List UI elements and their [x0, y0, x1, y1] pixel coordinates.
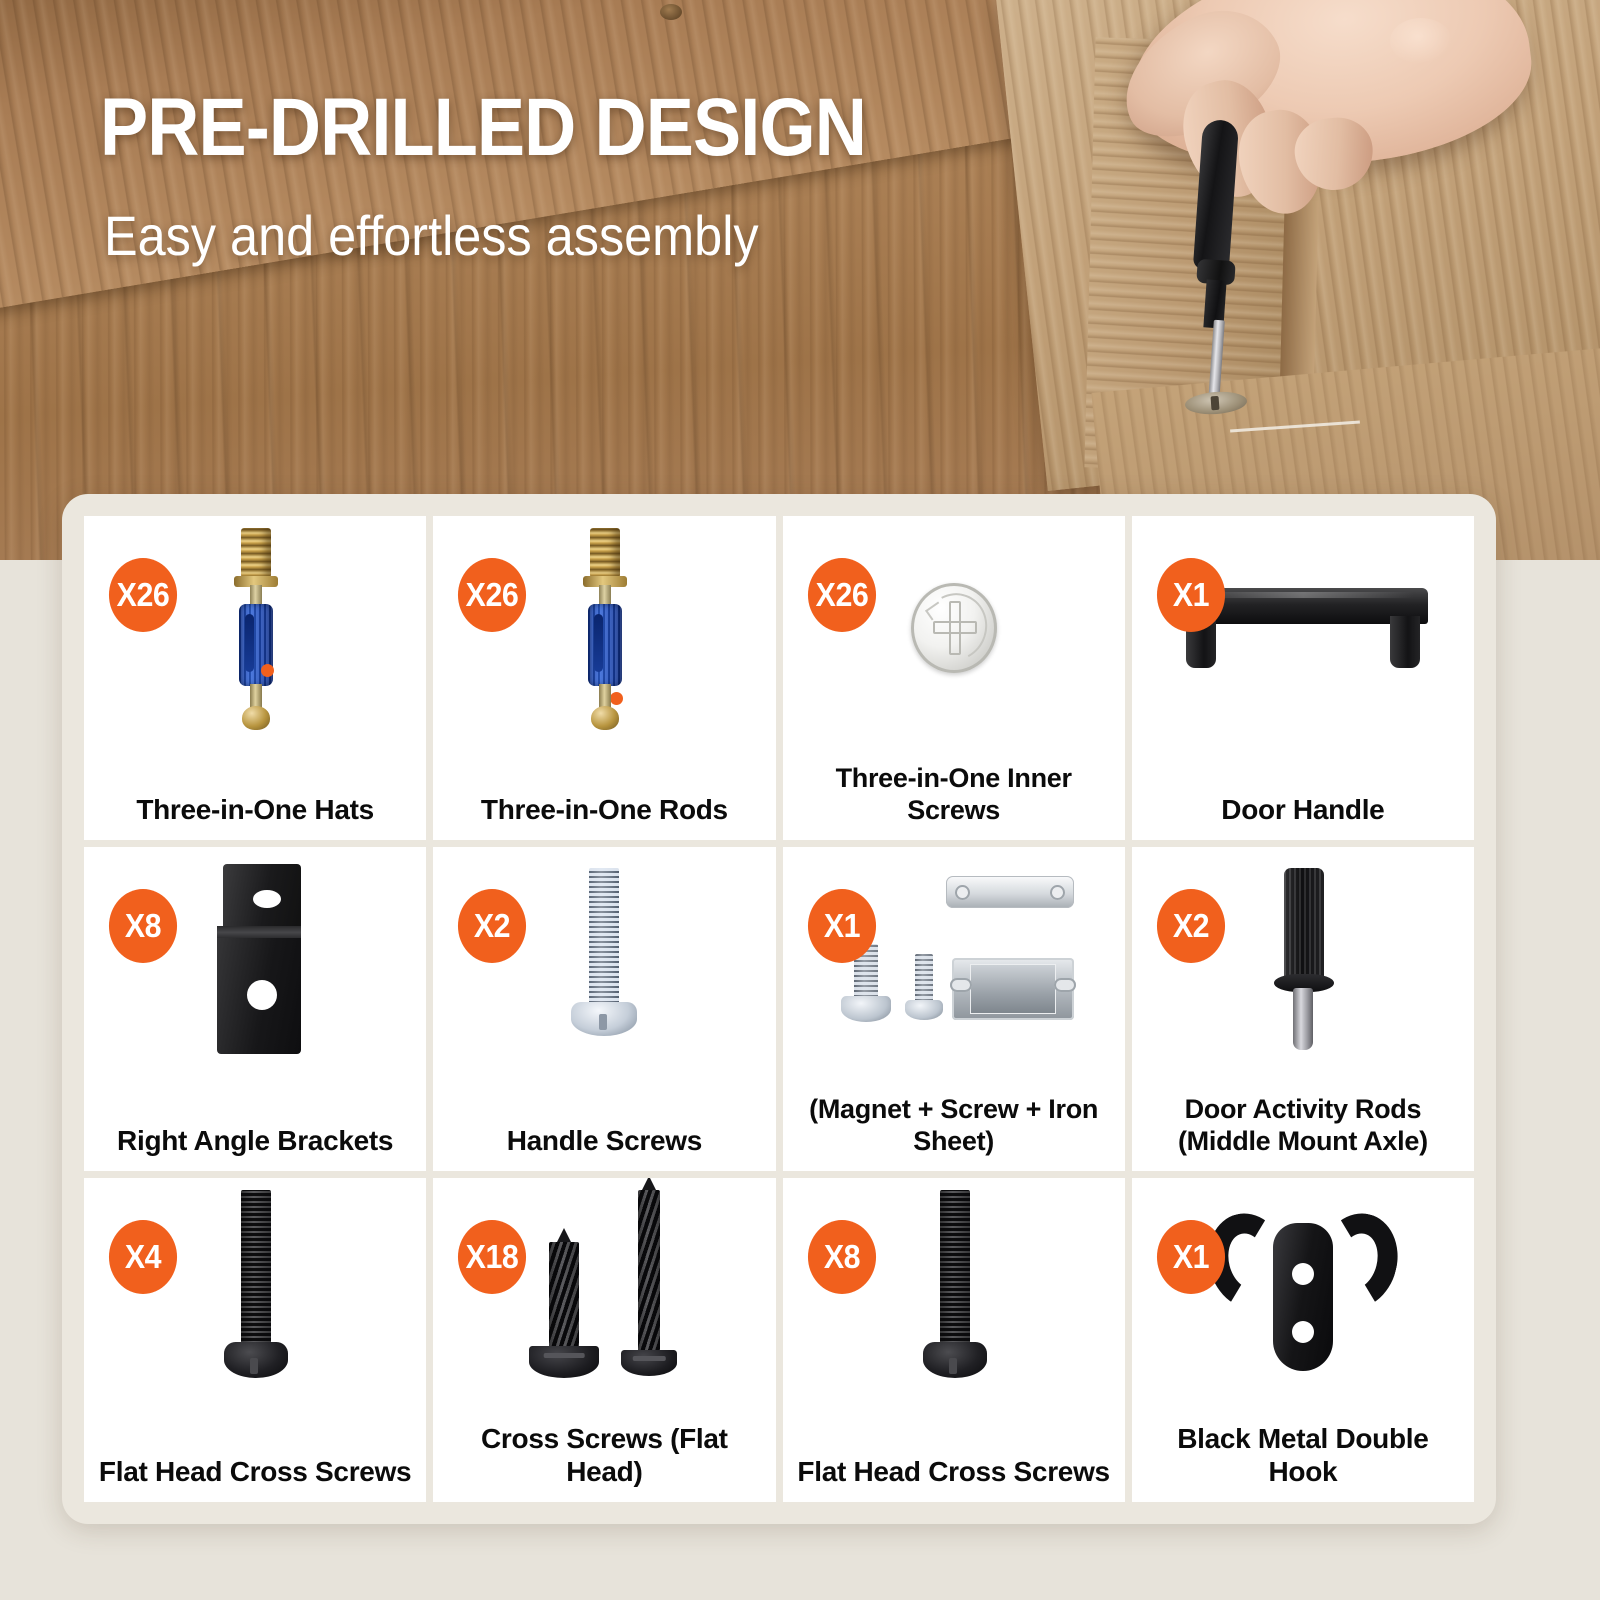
page-title: PRE-DRILLED DESIGN	[100, 88, 866, 168]
magnet-screw	[902, 954, 946, 1026]
parts-list-panel: X26 Three-in-One Hats X26	[62, 494, 1496, 1524]
quantity-badge: X26	[458, 558, 526, 632]
iron-sheet	[946, 876, 1074, 908]
part-card-magnet-screw-iron-sheet[interactable]: X1 (Magnet + Screw + Iron Sheet)	[783, 847, 1125, 1171]
part-label: Three-in-One Rods	[441, 794, 767, 826]
part-label: Right Angle Brackets	[92, 1125, 418, 1157]
part-label: Door Activity Rods (Middle Mount Axle)	[1140, 1094, 1466, 1157]
part-card-door-handle[interactable]: X1 Door Handle	[1132, 516, 1474, 840]
parts-grid: X26 Three-in-One Hats X26	[84, 516, 1474, 1502]
quantity-badge: X8	[807, 1220, 875, 1294]
quantity-badge: X26	[807, 558, 875, 632]
wood-screw-long	[617, 1190, 681, 1390]
quantity-badge: X1	[1157, 1220, 1225, 1294]
quantity-badge: X4	[109, 1220, 177, 1294]
part-card-flat-head-cross-screws-4[interactable]: X4 Flat Head Cross Screws	[84, 1178, 426, 1502]
quantity-badge: X8	[109, 889, 177, 963]
screw-in-hole	[1184, 390, 1247, 416]
part-label: Three-in-One Inner Screws	[791, 763, 1117, 826]
quantity-badge: X18	[458, 1220, 526, 1294]
part-card-three-in-one-rods[interactable]: X26 Three-in-One Rods	[433, 516, 775, 840]
page-subtitle: Easy and effortless assembly	[104, 208, 759, 264]
quantity-badge: X1	[807, 889, 875, 963]
magnet-body	[952, 958, 1074, 1020]
hand	[1090, 0, 1560, 260]
wood-screw-short	[527, 1242, 601, 1390]
part-label: Cross Screws (Flat Head)	[441, 1423, 767, 1488]
part-card-black-metal-double-hook[interactable]: X1 Black Metal Double Hook	[1132, 1178, 1474, 1502]
part-label: (Magnet + Screw + Iron Sheet)	[791, 1094, 1117, 1157]
quantity-badge: X1	[1157, 558, 1225, 632]
part-card-three-in-one-inner-screws[interactable]: X26 Three-in-One Inner Screws	[783, 516, 1125, 840]
quantity-badge: X26	[109, 558, 177, 632]
screwdriver-icon	[1180, 120, 1250, 420]
quantity-badge: X2	[1157, 889, 1225, 963]
part-label: Handle Screws	[441, 1125, 767, 1157]
part-label: Flat Head Cross Screws	[791, 1456, 1117, 1488]
part-card-door-activity-rods[interactable]: X2 Door Activity Rods (Middle Mount Axle…	[1132, 847, 1474, 1171]
part-label: Door Handle	[1140, 794, 1466, 826]
part-card-three-in-one-hats[interactable]: X26 Three-in-One Hats	[84, 516, 426, 840]
part-card-flat-head-cross-screws-8[interactable]: X8 Flat Head Cross Screws	[783, 1178, 1125, 1502]
part-card-cross-screws-flat-head[interactable]: X18 Cross Screws (Flat Head)	[433, 1178, 775, 1502]
part-card-handle-screws[interactable]: X2 Handle Screws	[433, 847, 775, 1171]
screw-head-top	[660, 4, 682, 20]
part-card-right-angle-brackets[interactable]: X8 Right Angle Brackets	[84, 847, 426, 1171]
part-label: Flat Head Cross Screws	[92, 1456, 418, 1488]
part-label: Three-in-One Hats	[92, 794, 418, 826]
quantity-badge: X2	[458, 889, 526, 963]
part-label: Black Metal Double Hook	[1140, 1423, 1466, 1488]
